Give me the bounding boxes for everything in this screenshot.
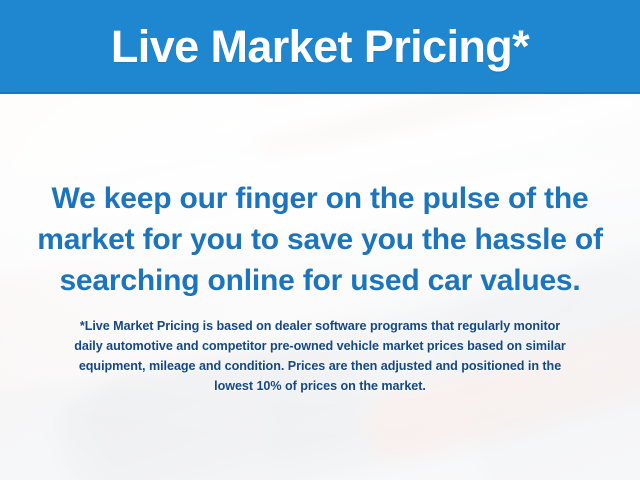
headline-line: We keep our finger on the pulse of the [20, 178, 620, 219]
page-title: Live Market Pricing* [111, 24, 529, 69]
promo-content: We keep our finger on the pulse of the m… [0, 94, 640, 480]
disclaimer-line: equipment, mileage and condition. Prices… [28, 356, 612, 376]
headline-text: We keep our finger on the pulse of the m… [20, 178, 620, 301]
live-market-pricing-promo-card: Live Market Pricing* We keep our finger … [0, 0, 640, 480]
headline-line: searching online for used car values. [20, 260, 620, 301]
header-banner: Live Market Pricing* [0, 0, 640, 94]
headline-line: market for you to save you the hassle of [20, 219, 620, 260]
disclaimer-line: *Live Market Pricing is based on dealer … [28, 316, 612, 336]
disclaimer-text: *Live Market Pricing is based on dealer … [28, 316, 612, 396]
disclaimer-line: daily automotive and competitor pre-owne… [28, 336, 612, 356]
disclaimer-line: lowest 10% of prices on the market. [28, 376, 612, 396]
